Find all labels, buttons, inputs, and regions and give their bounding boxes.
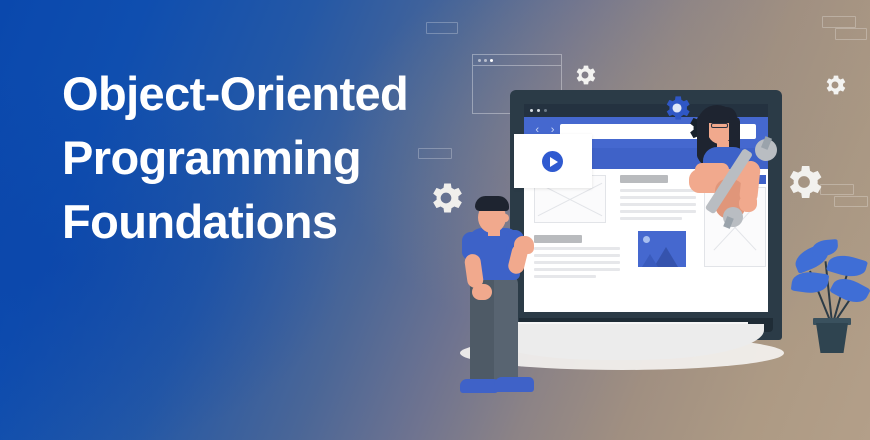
title-line-3: Foundations	[62, 190, 532, 254]
page-title: Object-Oriented Programming Foundations	[62, 62, 532, 254]
potted-plant	[792, 238, 870, 353]
title-line-1: Object-Oriented	[62, 62, 532, 126]
course-banner: Object-Oriented Programming Foundations	[0, 0, 870, 440]
glasses	[711, 123, 728, 128]
shoe-left	[460, 379, 498, 393]
hand-right	[739, 195, 757, 212]
pot	[816, 323, 848, 353]
play-icon	[550, 157, 558, 167]
leaf-3	[826, 251, 868, 281]
hand-left	[472, 284, 492, 300]
decor-rect-3	[822, 16, 856, 28]
sun-shape	[643, 236, 650, 243]
mountain-shape-small	[642, 254, 658, 267]
gear-icon-right-upper	[822, 72, 848, 103]
leg-right	[494, 274, 518, 386]
text-line	[620, 217, 682, 220]
leaf-4	[829, 273, 870, 308]
heading-block-middle	[620, 175, 668, 183]
decor-rect-4	[835, 28, 867, 40]
woman-with-wrench	[675, 103, 795, 223]
arm-left	[695, 163, 729, 177]
decor-rect-6	[834, 196, 868, 207]
browser-dot-2	[537, 109, 540, 112]
gear-icon-top-left	[572, 62, 598, 93]
browser-dot-3	[544, 109, 547, 112]
title-line-2: Programming	[62, 126, 532, 190]
leaf-2	[791, 270, 830, 296]
photo-placeholder	[638, 231, 686, 267]
leaf-5	[811, 239, 838, 257]
decor-rect-1	[426, 22, 458, 34]
shoe-right	[494, 377, 534, 392]
